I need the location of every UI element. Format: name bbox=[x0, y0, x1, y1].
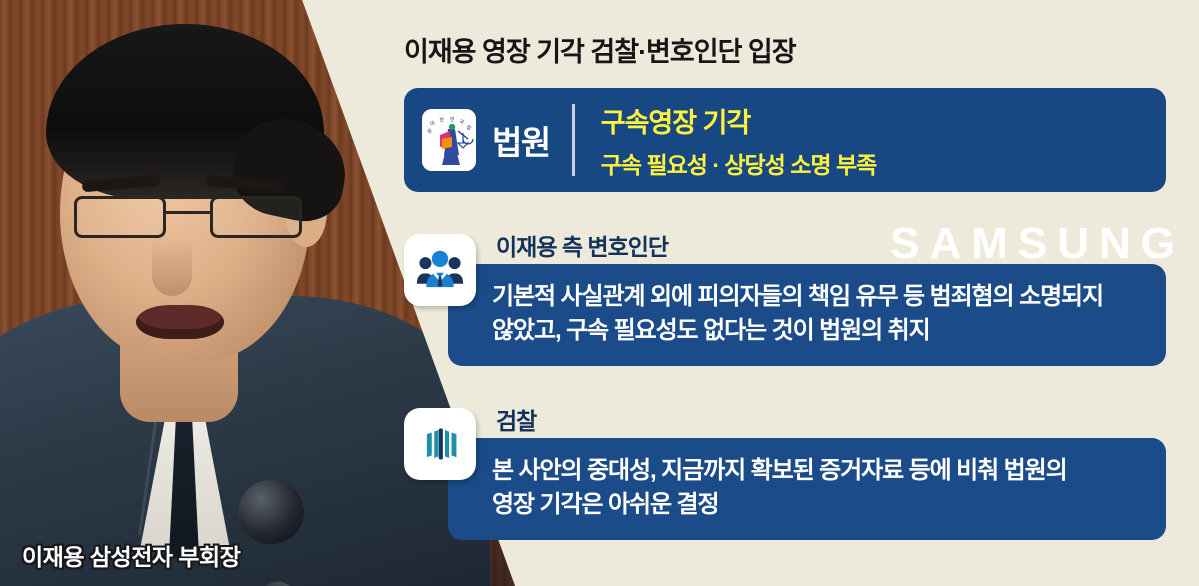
mouth-shape bbox=[136, 305, 224, 339]
group-of-people-icon bbox=[404, 234, 476, 306]
photo-caption: 이재용 삼성전자 부회장 bbox=[22, 538, 240, 572]
statement-title-prosecution: 검찰 bbox=[496, 402, 536, 436]
glasses-bridge bbox=[166, 211, 212, 214]
court-label: 법원 bbox=[492, 116, 550, 164]
statement-line-2: 영장 기각은 아쉬운 결정 bbox=[492, 488, 1144, 522]
lens-left bbox=[74, 196, 166, 238]
court-ruling-headline: 구속영장 기각 bbox=[601, 101, 877, 140]
court-banner: 대 한 민 국 법 원 법원 bbox=[404, 88, 1166, 192]
statement-line-2: 않았고, 구속 필요성도 없다는 것이 법원의 취지 bbox=[492, 314, 1144, 348]
svg-text:민: 민 bbox=[450, 116, 455, 123]
court-ruling-reason: 구속 필요성 · 상당성 소명 부족 bbox=[601, 146, 877, 180]
prosecution-service-emblem-icon bbox=[404, 408, 476, 480]
court-statement: 구속영장 기각 구속 필요성 · 상당성 소명 부족 bbox=[601, 101, 877, 180]
eyeglasses bbox=[74, 196, 302, 240]
samsung-wordmark: SAMSUNG bbox=[890, 222, 1185, 266]
nose-shape bbox=[152, 238, 192, 296]
page-title: 이재용 영장 기각 검찰·변호인단 입장 bbox=[404, 30, 796, 69]
lens-right bbox=[210, 196, 302, 238]
statement-line-1: 기본적 사실관계 외에 피의자들의 책임 유무 등 범죄혐의 소명되지 bbox=[492, 280, 1144, 314]
microphone-head-icon bbox=[238, 480, 304, 544]
statement-bubble-lawyers: 기본적 사실관계 외에 피의자들의 책임 유무 등 범죄혐의 소명되지 않았고,… bbox=[448, 264, 1166, 366]
statement-line-1: 본 사안의 중대성, 지금까지 확보된 증거자료 등에 비춰 법원의 bbox=[492, 454, 1144, 488]
korean-court-emblem-icon: 대 한 민 국 법 원 bbox=[422, 109, 476, 171]
infographic-root: 이재용 삼성전자 부회장 이재용 영장 기각 검찰·변호인단 입장 SAMSUN… bbox=[0, 0, 1199, 586]
statement-bubble-prosecution: 본 사안의 중대성, 지금까지 확보된 증거자료 등에 비춰 법원의 영장 기각… bbox=[448, 438, 1166, 540]
statement-title-lawyers: 이재용 측 변호인단 bbox=[496, 228, 668, 262]
court-divider bbox=[572, 104, 575, 176]
